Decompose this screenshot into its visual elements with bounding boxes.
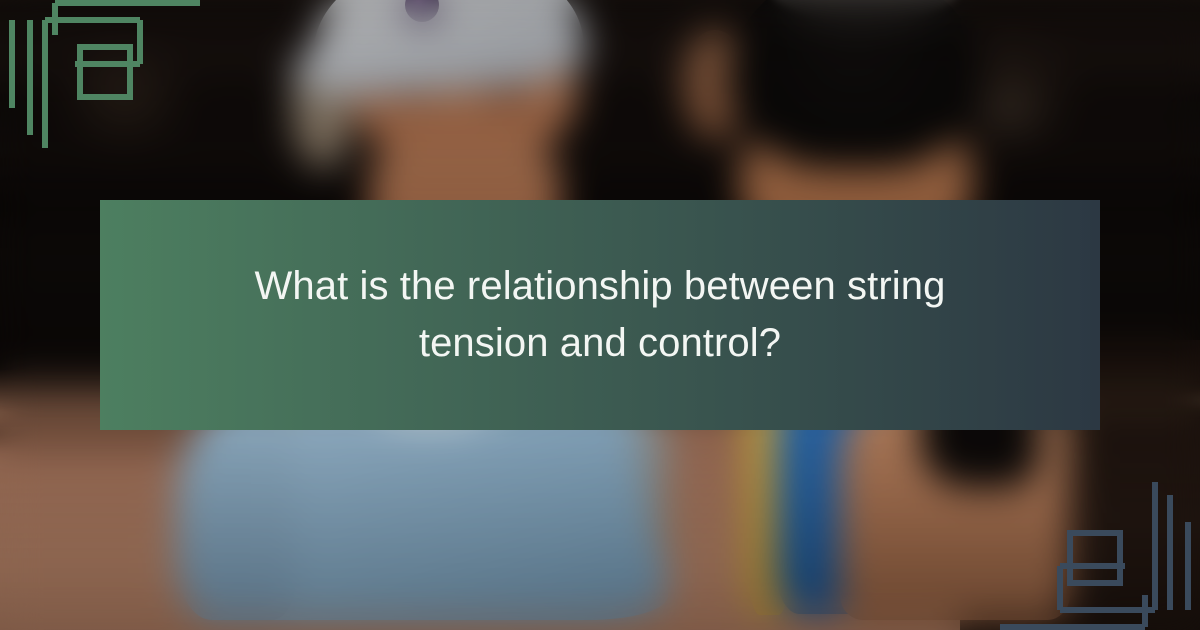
question-overlay-panel: What is the relationship between string … <box>100 200 1100 430</box>
share-card: What is the relationship between string … <box>0 0 1200 630</box>
question-text: What is the relationship between string … <box>220 258 980 372</box>
